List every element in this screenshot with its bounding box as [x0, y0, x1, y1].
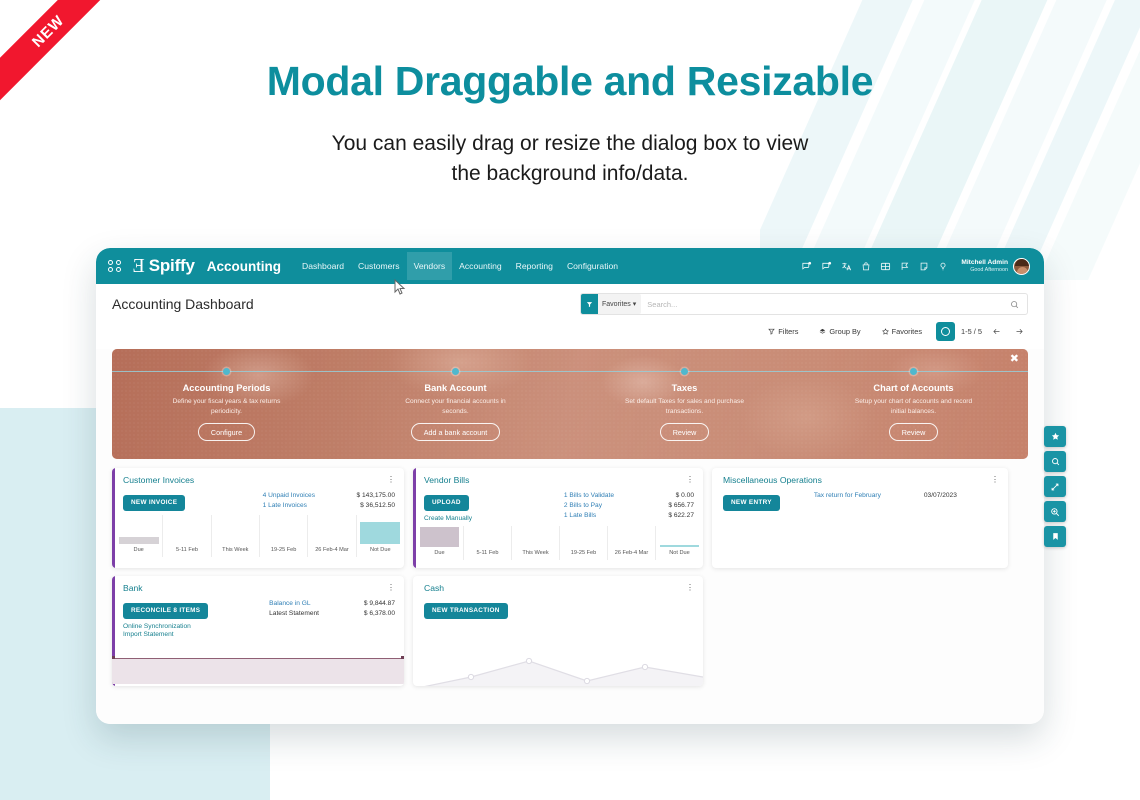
bar-label: 26 Feb-4 Mar — [615, 547, 649, 560]
card-menu-icon[interactable]: ⋮ — [387, 478, 395, 483]
favorites-facet-label: Favorites — [602, 301, 631, 308]
late-invoices-amount: $ 36,512.50 — [333, 501, 395, 511]
apps-grid-icon[interactable] — [108, 260, 121, 273]
breadcrumb: Accounting Dashboard — [112, 296, 254, 312]
search-input[interactable]: Search... — [647, 300, 1010, 309]
bar-label: Due — [434, 547, 444, 560]
card-menu-icon[interactable]: ⋮ — [686, 586, 694, 591]
step-dot — [223, 368, 230, 375]
onboarding-step-accounting-periods: Accounting Periods Define your fiscal ye… — [112, 349, 341, 459]
hero-section: Modal Draggable and Resizable You can ea… — [0, 58, 1140, 189]
menu-item-customers[interactable]: Customers — [351, 252, 407, 280]
step-dot — [910, 368, 917, 375]
step-dot — [452, 368, 459, 375]
app-window: Ǝ Spiffy Accounting Dashboard Customers … — [96, 248, 1044, 724]
import-statement-link[interactable]: Import Statement — [123, 631, 208, 638]
page-root: NEW Modal Draggable and Resizable You ca… — [0, 0, 1140, 800]
side-action-buttons — [1044, 426, 1066, 547]
step-title: Accounting Periods — [183, 383, 271, 393]
search-bar[interactable]: Favorites ▾ Search... — [580, 293, 1028, 315]
message-bubble-icon[interactable] — [801, 261, 812, 272]
step-description: Define your fiscal years & tax returns p… — [163, 397, 291, 416]
main-menu: Dashboard Customers Vendors Accounting R… — [295, 252, 625, 280]
reconcile-items-button[interactable]: RECONCILE 8 ITEMS — [123, 603, 208, 619]
bar-label: This Week — [222, 544, 248, 557]
hero-subtitle-line1: You can easily drag or resize the dialog… — [332, 132, 809, 155]
card-miscellaneous-operations[interactable]: Miscellaneous Operations ⋮ NEW ENTRY Tax… — [712, 468, 1008, 568]
translate-icon[interactable] — [841, 261, 852, 272]
step-title: Taxes — [672, 383, 698, 393]
new-transaction-button[interactable]: NEW TRANSACTION — [424, 603, 508, 619]
onboarding-step-taxes: Taxes Set default Taxes for sales and pu… — [570, 349, 799, 459]
menu-item-configuration[interactable]: Configuration — [560, 252, 625, 280]
bar-label: Not Due — [370, 544, 391, 557]
new-ribbon-label: NEW — [29, 12, 68, 51]
unpaid-invoices-label[interactable]: 4 Unpaid Invoices — [263, 491, 315, 501]
chat-bubble-icon[interactable] — [821, 261, 832, 272]
bar-label: Due — [134, 544, 144, 557]
chart-of-accounts-review-button[interactable]: Review — [889, 423, 939, 441]
menu-item-accounting[interactable]: Accounting — [452, 252, 509, 280]
tax-return-entry-label[interactable]: Tax return for February — [814, 491, 881, 501]
group-by-label: Group By — [829, 327, 860, 336]
bar-label: 26 Feb-4 Mar — [315, 544, 349, 557]
online-synchronization-link[interactable]: Online Synchronization — [123, 623, 208, 630]
pager: 1-5 / 5 — [936, 322, 1028, 341]
tax-return-entry-date: 03/07/2023 — [907, 491, 957, 501]
bag-icon[interactable] — [861, 261, 871, 272]
taxes-review-button[interactable]: Review — [660, 423, 710, 441]
latest-statement-label: Latest Statement — [269, 609, 319, 619]
star-icon[interactable] — [1044, 426, 1066, 447]
new-invoice-button[interactable]: NEW INVOICE — [123, 495, 185, 511]
search-icon[interactable] — [1044, 451, 1066, 472]
step-description: Setup your chart of accounts and record … — [850, 397, 978, 416]
bar-label: 5-11 Feb — [477, 547, 499, 560]
onboarding-step-chart-of-accounts: Chart of Accounts Setup your chart of ac… — [799, 349, 1028, 459]
favorites-facet[interactable]: Favorites ▾ — [581, 294, 641, 314]
latest-statement-amount: $ 6,378.00 — [333, 609, 395, 619]
customer-invoices-bar-chart: Due 5-11 Feb This Week 19-25 Feb 26 Feb-… — [115, 515, 404, 557]
card-menu-icon[interactable]: ⋮ — [387, 586, 395, 591]
onboarding-step-bank-account: Bank Account Connect your financial acco… — [341, 349, 570, 459]
late-bills-amount: $ 622.27 — [632, 511, 694, 521]
bar-label: This Week — [522, 547, 548, 560]
card-title: Customer Invoices — [123, 475, 194, 485]
bookmark-icon[interactable] — [1044, 526, 1066, 547]
card-vendor-bills[interactable]: Vendor Bills ⋮ UPLOAD Create Manually 1 … — [413, 468, 703, 568]
unpaid-invoices-amount: $ 143,175.00 — [333, 491, 395, 501]
resize-diagonal-icon[interactable] — [1044, 476, 1066, 497]
card-title: Miscellaneous Operations — [723, 475, 822, 485]
card-bank[interactable]: Bank ⋮ RECONCILE 8 ITEMS Online Synchron… — [112, 576, 404, 686]
user-menu[interactable]: Mitchell Admin Good Afternoon — [961, 258, 1030, 275]
card-menu-icon[interactable]: ⋮ — [686, 478, 694, 483]
filters-label: Filters — [778, 327, 798, 336]
bar-label: 19-25 Feb — [271, 544, 297, 557]
configure-button[interactable]: Configure — [198, 423, 255, 441]
card-title: Cash — [424, 583, 444, 593]
step-description: Connect your financial accounts in secon… — [392, 397, 520, 416]
user-name: Mitchell Admin — [961, 259, 1008, 267]
favorites-button[interactable]: Favorites — [875, 324, 929, 339]
step-title: Chart of Accounts — [873, 383, 953, 393]
filter-icon — [581, 294, 598, 314]
search-icon[interactable] — [1010, 300, 1019, 309]
late-invoices-label[interactable]: 1 Late Invoices — [263, 501, 315, 511]
new-ribbon: NEW — [0, 0, 110, 110]
step-title: Bank Account — [424, 383, 486, 393]
menu-item-dashboard[interactable]: Dashboard — [295, 252, 351, 280]
upload-button[interactable]: UPLOAD — [424, 495, 469, 511]
brand[interactable]: Ǝ Spiffy — [133, 256, 195, 276]
step-dot — [681, 368, 688, 375]
note-icon[interactable] — [919, 261, 929, 272]
late-bills-label[interactable]: 1 Late Bills — [564, 511, 614, 521]
step-description: Set default Taxes for sales and purchase… — [621, 397, 749, 416]
bills-to-pay-amount: $ 656.77 — [632, 501, 694, 511]
pager-count: 1-5 / 5 — [961, 327, 982, 336]
balance-in-gl-amount: $ 9,844.87 — [333, 599, 395, 609]
bank-balance-bar — [112, 658, 404, 684]
card-title: Vendor Bills — [424, 475, 469, 485]
bills-to-pay-label[interactable]: 2 Bills to Pay — [564, 501, 614, 511]
hero-subtitle-line2: the background info/data. — [451, 162, 688, 185]
cash-line-chart — [413, 637, 703, 687]
new-entry-button[interactable]: NEW ENTRY — [723, 495, 780, 511]
filters-button[interactable]: Filters — [761, 324, 805, 339]
current-app-name: Accounting — [207, 259, 281, 274]
create-manually-link[interactable]: Create Manually — [424, 515, 472, 522]
tag-icon[interactable] — [900, 261, 910, 272]
pager-prev-button[interactable] — [988, 323, 1005, 340]
menu-item-reporting[interactable]: Reporting — [509, 252, 560, 280]
vendor-bills-bar-chart: Due 5-11 Feb This Week 19-25 Feb 26 Feb-… — [416, 526, 703, 560]
spiffy-s-logo: Ǝ — [133, 256, 145, 276]
kanban-view-icon[interactable] — [936, 322, 955, 341]
bills-to-validate-label[interactable]: 1 Bills to Validate — [564, 491, 614, 501]
dashboard-cards: Customer Invoices ⋮ NEW INVOICE 4 Unpaid… — [96, 459, 1044, 686]
hero-subtitle: You can easily drag or resize the dialog… — [0, 129, 1140, 189]
grid-view-icon[interactable] — [880, 261, 891, 272]
avatar[interactable] — [1013, 258, 1030, 275]
control-panel: Accounting Dashboard Favorites ▾ Search.… — [96, 284, 1044, 349]
bar-label: 5-11 Feb — [176, 544, 198, 557]
card-customer-invoices[interactable]: Customer Invoices ⋮ NEW INVOICE 4 Unpaid… — [112, 468, 404, 568]
onboarding-banner: ✖ Accounting Periods Define your fiscal … — [112, 349, 1028, 459]
balance-in-gl-label[interactable]: Balance in GL — [269, 599, 319, 609]
card-menu-icon[interactable]: ⋮ — [991, 478, 999, 483]
group-by-button[interactable]: Group By — [812, 324, 867, 339]
brand-name: Spiffy — [149, 256, 195, 276]
lightbulb-icon[interactable] — [938, 261, 948, 272]
bar-label: Not Due — [669, 547, 690, 560]
top-navigation-bar: Ǝ Spiffy Accounting Dashboard Customers … — [96, 248, 1044, 284]
favorites-label: Favorites — [892, 327, 922, 336]
bar-label: 19-25 Feb — [571, 547, 597, 560]
pager-next-button[interactable] — [1011, 323, 1028, 340]
add-bank-account-button[interactable]: Add a bank account — [411, 423, 501, 441]
card-title: Bank — [123, 583, 143, 593]
mouse-cursor — [392, 278, 406, 296]
chevron-down-icon: ▾ — [633, 301, 637, 308]
page-title: Modal Draggable and Resizable — [0, 58, 1140, 105]
nav-right-icons: Mitchell Admin Good Afternoon — [801, 258, 1034, 275]
zoom-search-icon[interactable] — [1044, 501, 1066, 522]
user-greeting: Good Afternoon — [961, 267, 1008, 273]
menu-item-vendors[interactable]: Vendors — [407, 252, 453, 280]
card-cash[interactable]: Cash ⋮ NEW TRANSACTION — [413, 576, 703, 686]
bills-to-validate-amount: $ 0.00 — [632, 491, 694, 501]
